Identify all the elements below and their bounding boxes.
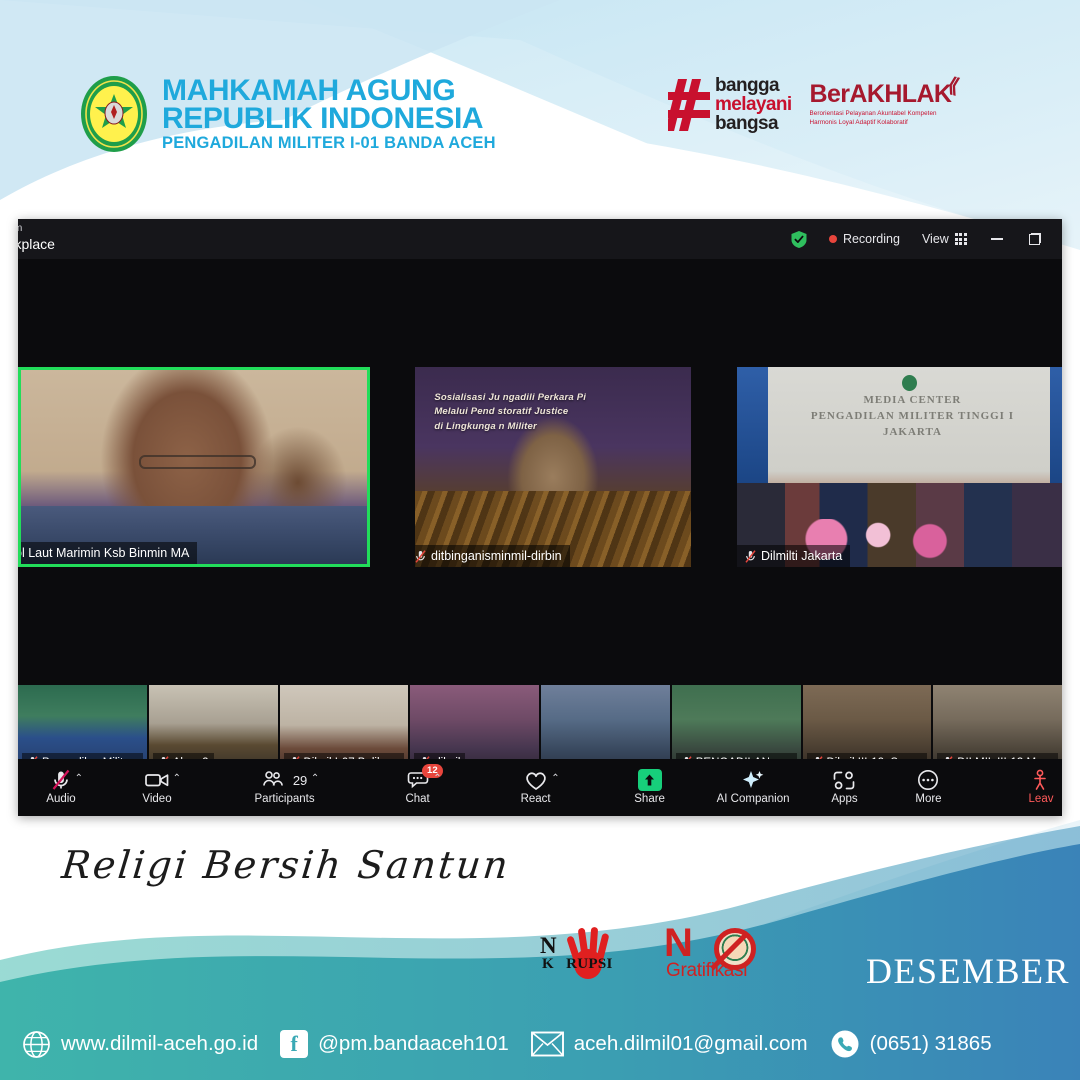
chat-caret-icon[interactable]: ⌃ bbox=[433, 773, 441, 784]
recording-indicator[interactable]: Recording bbox=[818, 225, 911, 253]
no-korupsi-rupsi: RUPSI bbox=[566, 956, 613, 972]
window-title: oom orkplace bbox=[18, 221, 55, 254]
leave-label: Leav bbox=[1029, 794, 1054, 806]
sparkle-icon bbox=[741, 769, 765, 791]
no-korupsi-k: K bbox=[542, 956, 554, 972]
footer-facebook[interactable]: f @pm.bandaaceh101 bbox=[280, 1030, 509, 1058]
react-label: React bbox=[521, 794, 551, 806]
restore-button[interactable] bbox=[1016, 225, 1054, 253]
footer-phone[interactable]: (0651) 31865 bbox=[830, 1029, 992, 1059]
wall-text-3: MEDIA CENTER PENGADILAN MILITER TINGGI I… bbox=[771, 393, 1053, 441]
view-button[interactable]: View bbox=[911, 225, 978, 253]
no-korupsi-logo: N K RUPSI bbox=[540, 920, 658, 982]
footer-phone-text: (0651) 31865 bbox=[870, 1032, 992, 1056]
zoom-titlebar: oom orkplace Recording View bbox=[18, 219, 1062, 259]
berakhlak-tagline-line1: Berorientasi Pelayanan Akuntabel Kompete… bbox=[810, 109, 952, 118]
wall-line2: PENGADILAN MILITER TINGGI I bbox=[771, 409, 1053, 425]
flyer-tagline: Religi Bersih Santun bbox=[60, 843, 513, 887]
participants-label: Participants bbox=[255, 794, 315, 806]
mahkamah-agung-logo-group: MAHKAMAH AGUNG REPUBLIK INDONESIA PENGAD… bbox=[78, 74, 496, 154]
ai-companion-button[interactable]: AI Companion bbox=[717, 763, 790, 813]
leave-meeting-icon bbox=[1031, 769, 1051, 791]
video-stage: ol Laut Marimin Ksb Binmin MA Sosialisas… bbox=[18, 259, 1062, 776]
participant-name: ol Laut Marimin Ksb Binmin MA bbox=[18, 546, 189, 560]
check-tick-icon: ⟪ bbox=[945, 72, 962, 99]
restore-window-icon bbox=[1029, 233, 1041, 245]
participant-name: Dilmilti Jakarta bbox=[761, 549, 842, 563]
court-title-block: MAHKAMAH AGUNG REPUBLIK INDONESIA PENGAD… bbox=[162, 77, 496, 152]
bangga-word2: melayani bbox=[715, 95, 792, 114]
apps-icon bbox=[832, 769, 856, 791]
no-gratifikasi-logo: N Gratifikasi bbox=[664, 920, 768, 982]
no-gratifikasi-text: Gratifikasi bbox=[666, 960, 747, 982]
berakhlak-tagline: Berorientasi Pelayanan Akuntabel Kompete… bbox=[810, 109, 952, 127]
footer-website-text: www.dilmil-aceh.go.id bbox=[61, 1032, 258, 1056]
participants-caret-icon[interactable]: ⌃ bbox=[311, 773, 319, 784]
video-tile-3[interactable]: MEDIA CENTER PENGADILAN MILITER TINGGI I… bbox=[737, 367, 1062, 567]
share-screen-icon bbox=[638, 769, 662, 791]
titlebar-controls: Recording View bbox=[780, 219, 1054, 259]
month-label: DESEMBER bbox=[866, 950, 1070, 992]
microphone-muted-icon bbox=[415, 550, 426, 563]
banner-text-2: Sosialisasi Ju ngadili Perkara Pi Melalu… bbox=[434, 391, 688, 434]
share-label: Share bbox=[634, 794, 665, 806]
audio-caret-icon[interactable]: ⌃ bbox=[75, 773, 83, 784]
court-title-line1: MAHKAMAH AGUNG bbox=[162, 77, 496, 106]
footer-email[interactable]: aceh.dilmil01@gmail.com bbox=[531, 1031, 808, 1057]
no-gratifikasi-n: N bbox=[664, 923, 691, 963]
audio-button[interactable]: ⌃ Audio bbox=[32, 763, 90, 813]
participant-video-1 bbox=[21, 370, 367, 564]
recording-label: Recording bbox=[843, 232, 900, 246]
participant-video-3: MEDIA CENTER PENGADILAN MILITER TINGGI I… bbox=[737, 367, 1062, 567]
chat-bubble-icon: 12 ⌃ bbox=[406, 769, 430, 791]
zoom-meeting-window[interactable]: oom orkplace Recording View bbox=[18, 219, 1062, 816]
berakhlak-logo: BerAKHLAK Berorientasi Pelayanan Akuntab… bbox=[810, 82, 952, 127]
more-dots-icon bbox=[917, 769, 939, 791]
flyer-header: MAHKAMAH AGUNG REPUBLIK INDONESIA PENGAD… bbox=[0, 62, 1080, 172]
bangga-words: bangga melayani bangsa bbox=[715, 76, 792, 133]
phone-icon bbox=[830, 1029, 860, 1059]
leave-button[interactable]: Leav bbox=[1012, 763, 1062, 813]
more-button[interactable]: More bbox=[899, 763, 957, 813]
security-status[interactable] bbox=[780, 225, 818, 253]
banner-line3: di Lingkunga n Militer bbox=[434, 420, 688, 434]
participants-button[interactable]: 29 ⌃ Participants bbox=[255, 763, 315, 813]
apps-label: Apps bbox=[831, 794, 857, 806]
chat-button[interactable]: 12 ⌃ Chat bbox=[389, 763, 447, 813]
zoom-toolbar[interactable]: ⌃ Audio ⌃ Video bbox=[18, 759, 1062, 816]
banner-line2: Melalui Pend storatif Justice bbox=[434, 405, 688, 419]
ai-companion-label: AI Companion bbox=[717, 794, 790, 806]
react-button[interactable]: ⌃ React bbox=[507, 763, 565, 813]
tile-name-label: ditbinganisminmil-dirbin bbox=[415, 545, 570, 567]
more-label: More bbox=[915, 794, 941, 806]
hashtag-icon bbox=[668, 79, 710, 131]
footer-website[interactable]: www.dilmil-aceh.go.id bbox=[22, 1030, 258, 1059]
record-dot-icon bbox=[829, 235, 837, 243]
camera-icon: ⌃ bbox=[145, 769, 169, 791]
video-tile-2[interactable]: Sosialisasi Ju ngadili Perkara Pi Melalu… bbox=[415, 367, 691, 567]
microphone-muted-icon: ⌃ bbox=[51, 769, 71, 791]
berakhlak-title: BerAKHLAK bbox=[810, 82, 952, 107]
facebook-glyph: f bbox=[290, 1033, 297, 1055]
video-button[interactable]: ⌃ Video bbox=[128, 763, 186, 813]
heart-icon: ⌃ bbox=[524, 769, 548, 791]
court-title-line3: PENGADILAN MILITER I-01 BANDA ACEH bbox=[162, 136, 496, 152]
facebook-icon: f bbox=[280, 1030, 308, 1058]
microphone-muted-icon bbox=[745, 550, 756, 563]
participant-video-2: Sosialisasi Ju ngadili Perkara Pi Melalu… bbox=[415, 367, 691, 567]
view-label: View bbox=[922, 232, 949, 246]
wall-line1: MEDIA CENTER bbox=[771, 393, 1053, 409]
video-tile-active-speaker[interactable]: ol Laut Marimin Ksb Binmin MA bbox=[18, 367, 370, 567]
no-korupsi-text: K RUPSI bbox=[542, 956, 613, 973]
tile-name-label: Dilmilti Jakarta bbox=[737, 545, 850, 567]
minimize-button[interactable] bbox=[978, 225, 1016, 253]
participants-count: 29 bbox=[293, 773, 307, 788]
shield-check-icon bbox=[791, 231, 807, 248]
berakhlak-tagline-line2: Harmonis Loyal Adaptif Kolaboratif bbox=[810, 118, 952, 127]
glasses-detail bbox=[139, 455, 257, 469]
participant-name: ditbinganisminmil-dirbin bbox=[431, 549, 562, 563]
court-seal-icon bbox=[78, 74, 150, 154]
react-caret-icon[interactable]: ⌃ bbox=[551, 773, 559, 784]
footer-facebook-text: @pm.bandaaceh101 bbox=[318, 1032, 509, 1056]
window-title-top: oom bbox=[18, 221, 55, 235]
apps-button[interactable]: Apps bbox=[815, 763, 873, 813]
bangga-word3: bangsa bbox=[715, 114, 792, 133]
minimize-icon bbox=[991, 238, 1003, 240]
video-caret-icon[interactable]: ⌃ bbox=[173, 773, 181, 784]
wall-seal-icon bbox=[902, 375, 917, 391]
chat-label: Chat bbox=[405, 794, 429, 806]
anti-corruption-logos: N K RUPSI N Gratifikasi bbox=[540, 920, 768, 982]
no-korupsi-n: N bbox=[540, 934, 556, 958]
footer-email-text: aceh.dilmil01@gmail.com bbox=[574, 1032, 808, 1056]
envelope-icon bbox=[531, 1031, 564, 1057]
video-label: Video bbox=[142, 794, 171, 806]
court-title-line2: REPUBLIK INDONESIA bbox=[162, 105, 496, 134]
window-title-main: orkplace bbox=[18, 235, 55, 254]
globe-icon bbox=[22, 1030, 51, 1059]
flyer-footer: www.dilmil-aceh.go.id f @pm.bandaaceh101… bbox=[0, 1008, 1080, 1080]
share-button[interactable]: Share bbox=[621, 763, 679, 813]
bangga-melayani-bangsa-logo: bangga melayani bangsa bbox=[668, 76, 792, 133]
grid-view-icon bbox=[955, 233, 967, 245]
main-video-tiles: ol Laut Marimin Ksb Binmin MA Sosialisas… bbox=[18, 367, 1062, 567]
brand-logo-group: bangga melayani bangsa BerAKHLAK Berorie… bbox=[668, 76, 951, 133]
bangga-word1: bangga bbox=[715, 76, 792, 95]
banner-line1: Sosialisasi Ju ngadili Perkara Pi bbox=[434, 391, 688, 405]
wall-line3: JAKARTA bbox=[771, 425, 1053, 441]
participants-icon: 29 ⌃ bbox=[262, 769, 307, 791]
audio-label: Audio bbox=[46, 794, 75, 806]
tile-name-label: ol Laut Marimin Ksb Binmin MA bbox=[18, 542, 197, 564]
